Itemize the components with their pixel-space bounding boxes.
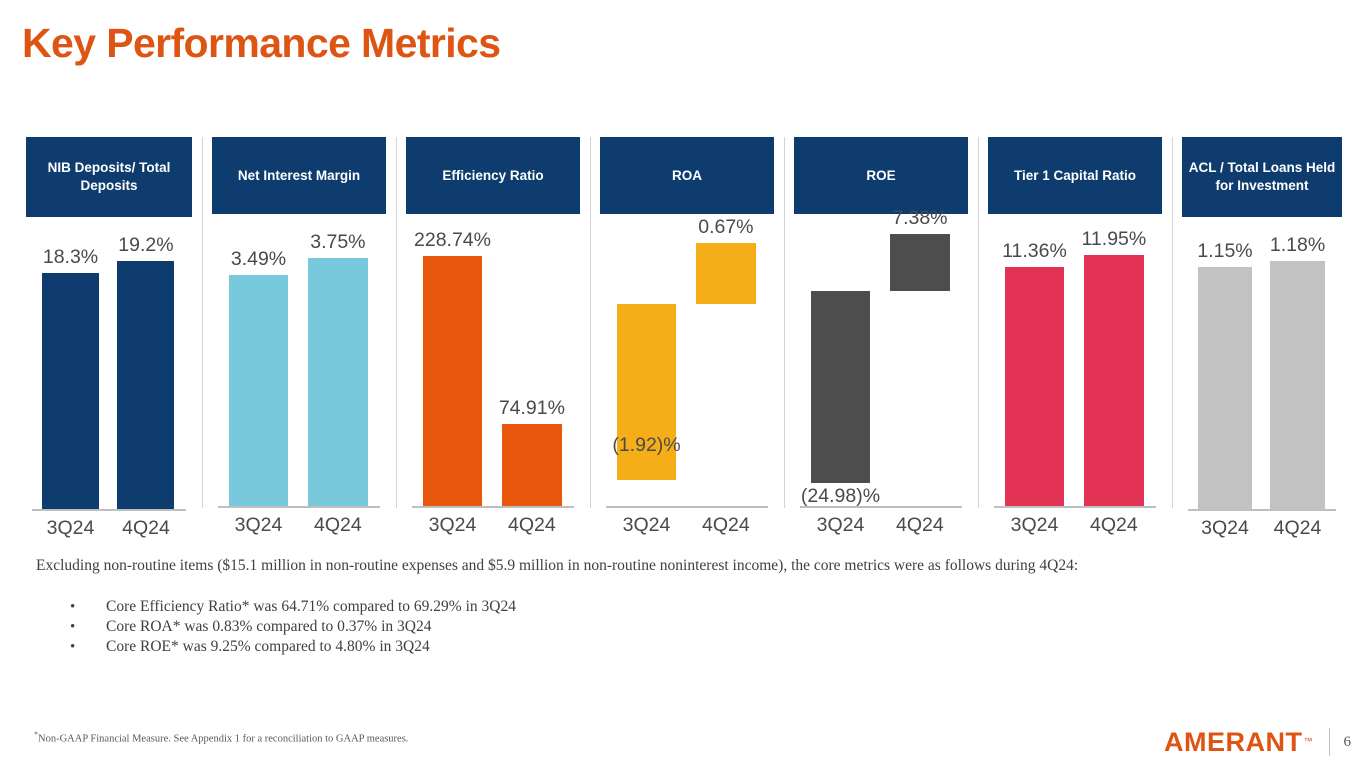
bar-group: 11.95%4Q24 bbox=[1080, 222, 1148, 506]
bar bbox=[117, 261, 174, 509]
bullet-icon: • bbox=[70, 597, 106, 617]
axis-baseline bbox=[218, 506, 380, 508]
metric-card-inner: Tier 1 Capital Ratio11.36%3Q2411.95%4Q24 bbox=[978, 137, 1172, 509]
bar-value-label: 7.38% bbox=[870, 207, 971, 230]
axis-baseline bbox=[606, 506, 768, 508]
bullet-icon: • bbox=[70, 637, 106, 657]
bar-value-label: 228.74% bbox=[402, 229, 503, 252]
bar-value-label: 0.67% bbox=[676, 216, 777, 239]
bar-group: 11.36%3Q24 bbox=[1000, 222, 1068, 506]
bar bbox=[890, 234, 950, 291]
bar-group: 74.91%4Q24 bbox=[498, 222, 566, 506]
metric-card: ROA(1.92)%3Q240.67%4Q24 bbox=[590, 137, 784, 509]
footnote-text: Non-GAAP Financial Measure. See Appendix… bbox=[38, 734, 408, 745]
axis-baseline bbox=[32, 509, 186, 511]
list-item: •Core ROA* was 0.83% compared to 0.37% i… bbox=[70, 617, 1070, 637]
plot-area: (1.92)%3Q240.67%4Q24 bbox=[606, 222, 768, 509]
bullet-icon: • bbox=[70, 617, 106, 637]
metric-card-inner: ROE(24.98)%3Q247.38%4Q24 bbox=[784, 137, 978, 509]
amerant-logo-text: AMERANT bbox=[1164, 727, 1303, 757]
plot-area: 228.74%3Q2474.91%4Q24 bbox=[412, 222, 574, 509]
plot-area: (24.98)%3Q247.38%4Q24 bbox=[800, 222, 962, 509]
metric-card-inner: Efficiency Ratio228.74%3Q2474.91%4Q24 bbox=[396, 137, 590, 509]
category-label: 4Q24 bbox=[1064, 514, 1165, 537]
bar-group: 7.38%4Q24 bbox=[886, 222, 954, 506]
bar-group: (1.92)%3Q24 bbox=[612, 222, 680, 506]
metric-card: ROE(24.98)%3Q247.38%4Q24 bbox=[784, 137, 978, 509]
bar bbox=[423, 256, 483, 506]
plot-area: 1.15%3Q241.18%4Q24 bbox=[1188, 225, 1336, 509]
metric-chart: (24.98)%3Q247.38%4Q24 bbox=[794, 214, 968, 509]
metric-card-title: Tier 1 Capital Ratio bbox=[988, 137, 1162, 214]
metric-card: Tier 1 Capital Ratio11.36%3Q2411.95%4Q24 bbox=[978, 137, 1172, 509]
list-item: •Core ROE* was 9.25% compared to 4.80% i… bbox=[70, 637, 1070, 657]
slide-canvas: Key Performance Metrics NIB Deposits/ To… bbox=[0, 0, 1365, 768]
metric-card-title: Net Interest Margin bbox=[212, 137, 386, 214]
footer-brand: AMERANT™ 6 bbox=[1164, 728, 1351, 756]
metrics-card-row: NIB Deposits/ Total Deposits18.3%3Q2419.… bbox=[16, 137, 1352, 509]
bar-value-label: 74.91% bbox=[482, 397, 583, 420]
metric-card: NIB Deposits/ Total Deposits18.3%3Q2419.… bbox=[16, 137, 202, 509]
bar-group: 3.75%4Q24 bbox=[304, 222, 372, 506]
bar bbox=[696, 243, 756, 304]
metric-card: Net Interest Margin3.49%3Q243.75%4Q24 bbox=[202, 137, 396, 509]
bar-group: 1.15%3Q24 bbox=[1194, 225, 1256, 509]
axis-baseline bbox=[994, 506, 1156, 508]
bar-value-label: (24.98)% bbox=[790, 485, 891, 508]
axis-baseline bbox=[412, 506, 574, 508]
metric-chart: 3.49%3Q243.75%4Q24 bbox=[212, 214, 386, 509]
bar bbox=[1084, 255, 1144, 506]
metric-card-inner: NIB Deposits/ Total Deposits18.3%3Q2419.… bbox=[16, 137, 202, 509]
footnote: *Non-GAAP Financial Measure. See Appendi… bbox=[34, 730, 408, 745]
bar-group: (24.98)%3Q24 bbox=[806, 222, 874, 506]
category-label: 4Q24 bbox=[288, 514, 389, 537]
bar bbox=[42, 273, 99, 509]
metric-chart: 18.3%3Q2419.2%4Q24 bbox=[26, 217, 192, 509]
footer-divider bbox=[1329, 728, 1330, 756]
bar bbox=[1005, 267, 1065, 506]
list-item-text: Core ROE* was 9.25% compared to 4.80% in… bbox=[106, 637, 430, 657]
category-label: 4Q24 bbox=[870, 514, 971, 537]
bar-value-label: 1.18% bbox=[1252, 234, 1344, 257]
plot-area: 3.49%3Q243.75%4Q24 bbox=[218, 222, 380, 509]
bar-group: 1.18%4Q24 bbox=[1266, 225, 1328, 509]
bar-value-label: (1.92)% bbox=[602, 434, 692, 457]
plot-area: 11.36%3Q2411.95%4Q24 bbox=[994, 222, 1156, 509]
category-label: 4Q24 bbox=[98, 517, 194, 540]
metric-chart: (1.92)%3Q240.67%4Q24 bbox=[600, 214, 774, 509]
bar bbox=[1270, 261, 1325, 509]
category-label: 4Q24 bbox=[1252, 517, 1344, 540]
trademark-icon: ™ bbox=[1304, 736, 1313, 746]
metric-card-inner: Net Interest Margin3.49%3Q243.75%4Q24 bbox=[202, 137, 396, 509]
metric-card-inner: ROA(1.92)%3Q240.67%4Q24 bbox=[590, 137, 784, 509]
bar bbox=[229, 275, 289, 506]
bar-group: 18.3%3Q24 bbox=[38, 225, 103, 509]
metric-card-title: ACL / Total Loans Held for Investment bbox=[1182, 137, 1342, 217]
bar-value-label: 3.75% bbox=[288, 231, 389, 254]
bar-value-label: 19.2% bbox=[98, 234, 194, 257]
category-label: 4Q24 bbox=[482, 514, 583, 537]
list-item-text: Core Efficiency Ratio* was 64.71% compar… bbox=[106, 597, 516, 617]
lead-paragraph: Excluding non-routine items ($15.1 milli… bbox=[36, 556, 1296, 576]
bar-group: 19.2%4Q24 bbox=[114, 225, 179, 509]
metric-card-inner: ACL / Total Loans Held for Investment1.1… bbox=[1172, 137, 1352, 509]
bar bbox=[1198, 267, 1253, 509]
bar bbox=[811, 291, 871, 483]
metric-card-title: NIB Deposits/ Total Deposits bbox=[26, 137, 192, 217]
category-label: 4Q24 bbox=[676, 514, 777, 537]
amerant-logo: AMERANT™ bbox=[1164, 729, 1313, 756]
bar-value-label: 11.95% bbox=[1064, 228, 1165, 251]
bar bbox=[502, 424, 562, 506]
page-number: 6 bbox=[1344, 734, 1352, 751]
plot-area: 18.3%3Q2419.2%4Q24 bbox=[32, 225, 186, 509]
metric-chart: 1.15%3Q241.18%4Q24 bbox=[1182, 217, 1342, 509]
metric-card-title: ROE bbox=[794, 137, 968, 214]
axis-baseline bbox=[1188, 509, 1336, 511]
metric-chart: 228.74%3Q2474.91%4Q24 bbox=[406, 214, 580, 509]
metric-chart: 11.36%3Q2411.95%4Q24 bbox=[988, 214, 1162, 509]
list-item-text: Core ROA* was 0.83% compared to 0.37% in… bbox=[106, 617, 431, 637]
metric-card-title: Efficiency Ratio bbox=[406, 137, 580, 214]
bar-group: 228.74%3Q24 bbox=[418, 222, 486, 506]
bar-group: 3.49%3Q24 bbox=[224, 222, 292, 506]
metric-card-title: ROA bbox=[600, 137, 774, 214]
core-metrics-bullet-list: •Core Efficiency Ratio* was 64.71% compa… bbox=[70, 597, 1070, 657]
bar bbox=[308, 258, 368, 506]
bar-group: 0.67%4Q24 bbox=[692, 222, 760, 506]
page-title: Key Performance Metrics bbox=[22, 20, 500, 67]
list-item: •Core Efficiency Ratio* was 64.71% compa… bbox=[70, 597, 1070, 617]
metric-card: Efficiency Ratio228.74%3Q2474.91%4Q24 bbox=[396, 137, 590, 509]
metric-card: ACL / Total Loans Held for Investment1.1… bbox=[1172, 137, 1352, 509]
